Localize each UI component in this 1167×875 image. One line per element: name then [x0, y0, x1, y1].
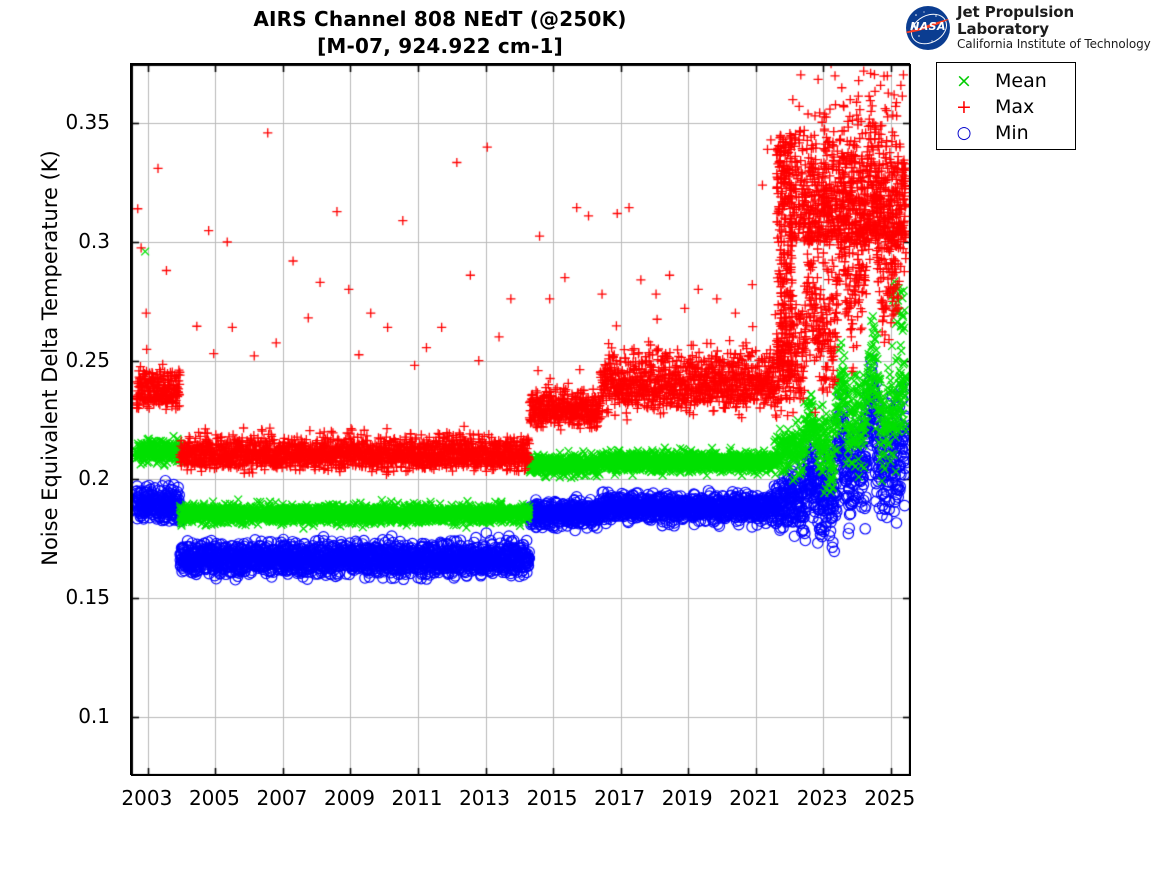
legend-label-min: Min [981, 122, 1029, 144]
y-tick-label: 0.2 [78, 466, 110, 490]
x-axis-ticks: 2003200520072009201120132015201720192021… [0, 786, 1167, 816]
y-axis-title: Noise Equivalent Delta Temperature (K) [38, 78, 62, 638]
x-tick-label: 2015 [527, 786, 578, 810]
jpl-institute: California Institute of Technology [957, 38, 1164, 52]
legend-marker-mean-icon: × [947, 72, 981, 91]
legend-label-max: Max [981, 96, 1034, 118]
jpl-text-block: Jet Propulsion Laboratory California Ins… [957, 4, 1164, 52]
x-tick-label: 2009 [324, 786, 375, 810]
x-tick-label: 2003 [121, 786, 172, 810]
legend-item-mean[interactable]: × Mean [937, 68, 1075, 94]
nasa-meatball-icon: NASA [906, 6, 950, 50]
title-line-2: [M-07, 924.922 cm-1] [0, 33, 880, 60]
y-tick-label: 0.1 [78, 704, 110, 728]
y-tick-label: 0.15 [65, 585, 110, 609]
x-tick-label: 2023 [797, 786, 848, 810]
nasa-jpl-logo: NASA Jet Propulsion Laboratory Californi… [906, 6, 1164, 50]
legend-marker-min-icon: ○ [947, 125, 981, 142]
x-tick-label: 2013 [459, 786, 510, 810]
y-tick-label: 0.3 [78, 229, 110, 253]
title-line-1: AIRS Channel 808 NEdT (@250K) [0, 6, 880, 33]
x-tick-label: 2021 [729, 786, 780, 810]
x-tick-label: 2019 [662, 786, 713, 810]
x-tick-label: 2005 [189, 786, 240, 810]
x-tick-label: 2007 [256, 786, 307, 810]
chart-legend: × Mean + Max ○ Min [936, 62, 1076, 150]
plot-area [130, 63, 910, 775]
y-tick-label: 0.35 [65, 110, 110, 134]
x-tick-label: 2025 [864, 786, 915, 810]
legend-label-mean: Mean [981, 70, 1047, 92]
legend-item-min[interactable]: ○ Min [937, 120, 1075, 146]
legend-marker-max-icon: + [947, 98, 981, 117]
x-tick-label: 2011 [392, 786, 443, 810]
scatter-plot-canvas [131, 64, 911, 776]
legend-item-max[interactable]: + Max [937, 94, 1075, 120]
nasa-wordmark: NASA [906, 20, 950, 33]
y-tick-label: 0.25 [65, 348, 110, 372]
page-title: AIRS Channel 808 NEdT (@250K) [M-07, 924… [0, 6, 880, 60]
jpl-name: Jet Propulsion Laboratory [957, 4, 1164, 37]
x-tick-label: 2017 [594, 786, 645, 810]
